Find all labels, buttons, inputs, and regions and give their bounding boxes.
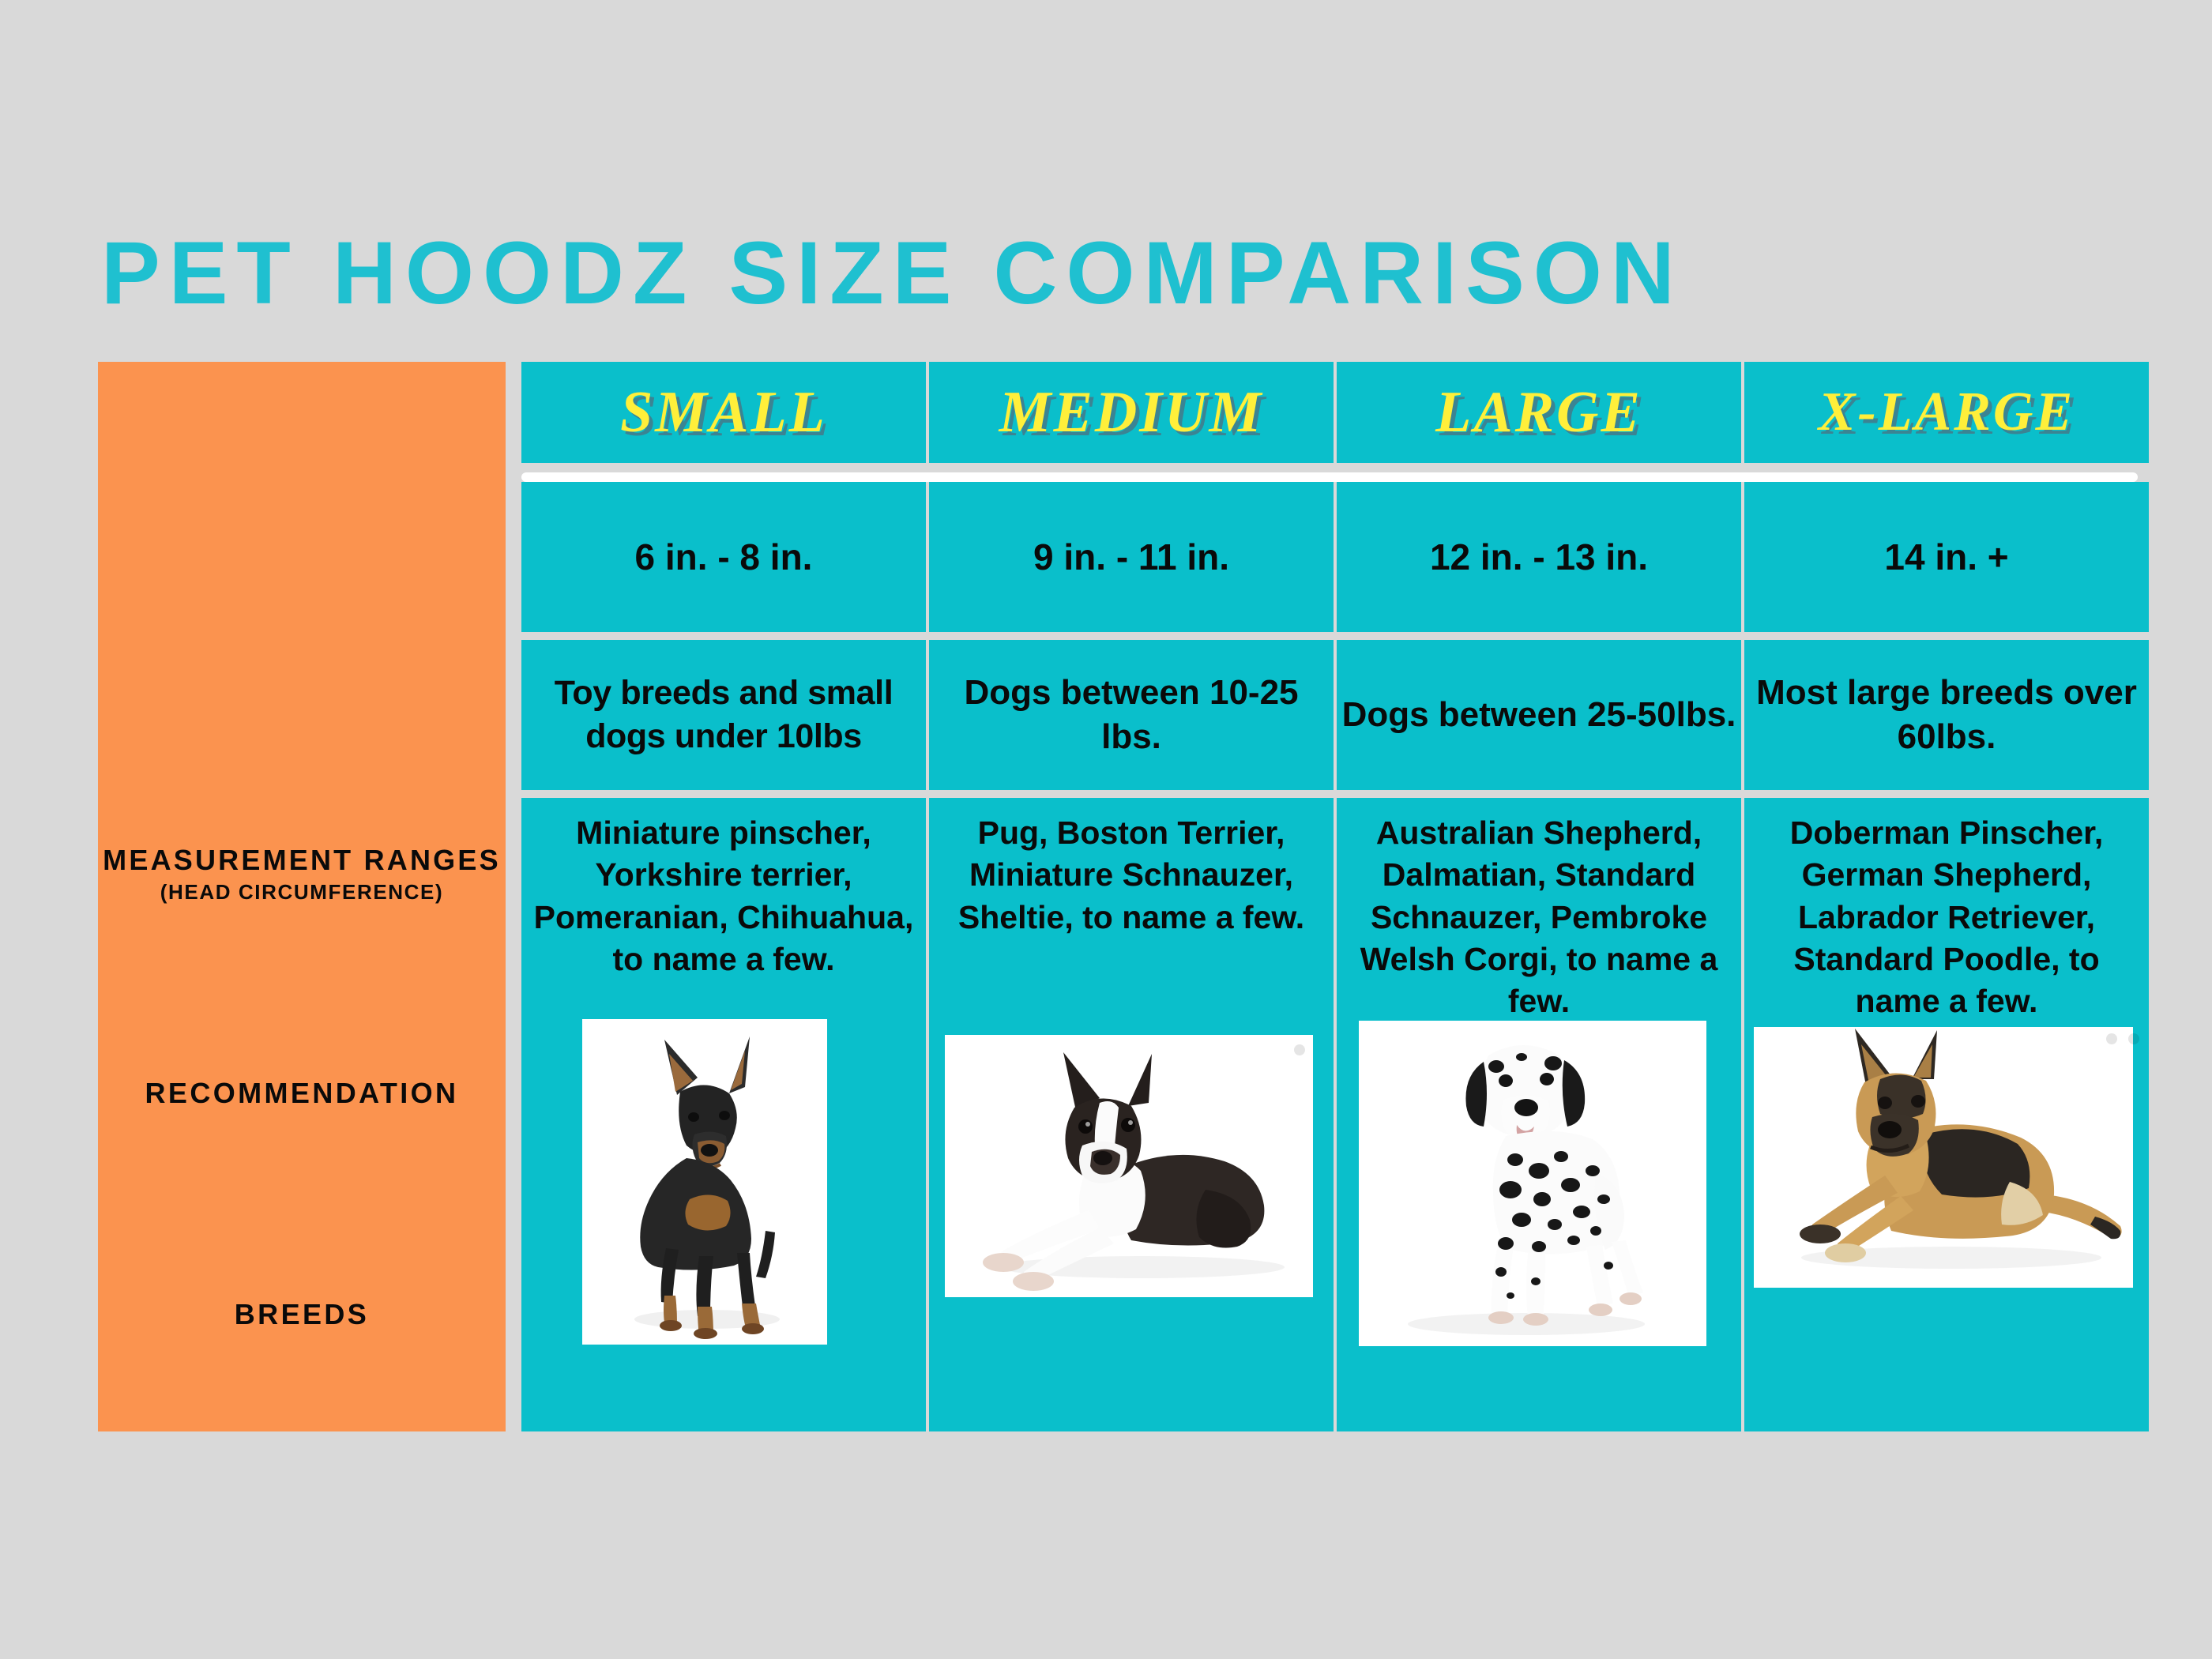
miniature-pinscher-photo bbox=[582, 1019, 827, 1345]
dalmatian-photo bbox=[1359, 1021, 1706, 1346]
row-label-breeds: BREEDS bbox=[98, 1298, 506, 1331]
recommendation-cell-small: Toy breeds and small dogs under 10lbs bbox=[521, 640, 926, 790]
watermark-dot bbox=[2128, 1033, 2139, 1044]
measurement-cell-large: 12 in. - 13 in. bbox=[1337, 482, 1741, 632]
page-title: PET HOODZ SIZE COMPARISON bbox=[101, 229, 1683, 318]
breeds-cell-large: Australian Shepherd, Dalmatian, Standard… bbox=[1337, 798, 1741, 1431]
recommendation-cell-medium: Dogs between 10-25 lbs. bbox=[929, 640, 1334, 790]
column-header-xlarge: X-LARGE bbox=[1744, 362, 2149, 463]
measurement-cell-xlarge: 14 in. + bbox=[1744, 482, 2149, 632]
german-shepherd-photo bbox=[1754, 1027, 2133, 1288]
watermark-dot bbox=[2106, 1033, 2117, 1044]
column-header-large: LARGE bbox=[1337, 362, 1741, 463]
comparison-table: MEASUREMENT RANGES (HEAD CIRCUMFERENCE) … bbox=[98, 362, 2136, 1431]
breeds-cell-small: Miniature pinscher, Yorkshire terrier, P… bbox=[521, 798, 926, 1431]
row-label-measurement: MEASUREMENT RANGES (HEAD CIRCUMFERENCE) bbox=[98, 844, 506, 905]
breeds-cell-medium: Pug, Boston Terrier, Miniature Schnauzer… bbox=[929, 798, 1334, 1431]
watermark-dot bbox=[1294, 1044, 1305, 1055]
measurement-cell-medium: 9 in. - 11 in. bbox=[929, 482, 1334, 632]
boston-terrier-photo bbox=[945, 1035, 1313, 1297]
recommendation-cell-large: Dogs between 25-50lbs. bbox=[1337, 640, 1741, 790]
header-divider-rule bbox=[521, 472, 2138, 482]
column-header-medium: MEDIUM bbox=[929, 362, 1334, 463]
row-label-recommendation: RECOMMENDATION bbox=[98, 1077, 506, 1110]
breeds-cell-xlarge: Doberman Pinscher, German Shepherd, Labr… bbox=[1744, 798, 2149, 1431]
row-label-column: MEASUREMENT RANGES (HEAD CIRCUMFERENCE) … bbox=[98, 362, 506, 1431]
column-header-small: SMALL bbox=[521, 362, 926, 463]
measurement-cell-small: 6 in. - 8 in. bbox=[521, 482, 926, 632]
recommendation-cell-xlarge: Most large breeds over 60lbs. bbox=[1744, 640, 2149, 790]
size-comparison-infographic: PET HOODZ SIZE COMPARISON MEASUREMENT RA… bbox=[0, 0, 2212, 1659]
